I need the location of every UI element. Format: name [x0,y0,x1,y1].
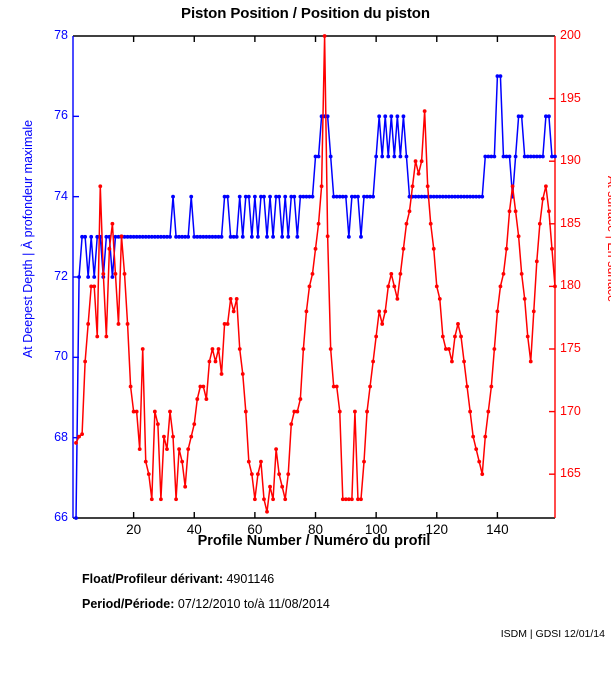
axis-tick-label: 68 [24,430,68,444]
axis-tick-label: 78 [24,28,68,42]
axis-tick-label: 20 [112,522,156,537]
axis-tick-label: 76 [24,108,68,122]
axis-tick-label: 40 [172,522,216,537]
axis-tick-label: 120 [415,522,459,537]
piston-position-chart: Piston Position / Position du piston At … [0,0,611,675]
period-value: 07/12/2010 to/à 11/08/2014 [178,597,330,611]
axis-tick-label: 74 [24,189,68,203]
axis-tick-label: 180 [560,278,604,292]
footer-info: Float/Profileur dérivant: 4901146 Period… [82,572,330,622]
axis-tick-label: 140 [475,522,519,537]
axis-tick-label: 66 [24,510,68,524]
credit-text: ISDM | GDSI 12/01/14 [501,628,605,640]
period-label: Period/Période: [82,597,174,611]
axis-tick-label: 200 [560,28,604,42]
period-row: Period/Période: 07/12/2010 to/à 11/08/20… [82,597,330,611]
right-axis-title: At surface | En surface [605,74,611,404]
axis-tick-label: 70 [24,349,68,363]
axis-tick-label: 175 [560,341,604,355]
axis-tick-label: 195 [560,91,604,105]
axis-tick-label: 60 [233,522,277,537]
axis-tick-label: 80 [294,522,338,537]
axis-tick-label: 190 [560,153,604,167]
axis-tick-label: 165 [560,466,604,480]
axis-tick-label: 100 [354,522,398,537]
float-label: Float/Profileur dérivant: [82,572,223,586]
axis-tick-label: 72 [24,269,68,283]
axis-tick-label: 170 [560,404,604,418]
float-value: 4901146 [226,572,274,586]
float-row: Float/Profileur dérivant: 4901146 [82,572,330,586]
series-at-surface [74,34,557,514]
axis-tick-label: 185 [560,216,604,230]
